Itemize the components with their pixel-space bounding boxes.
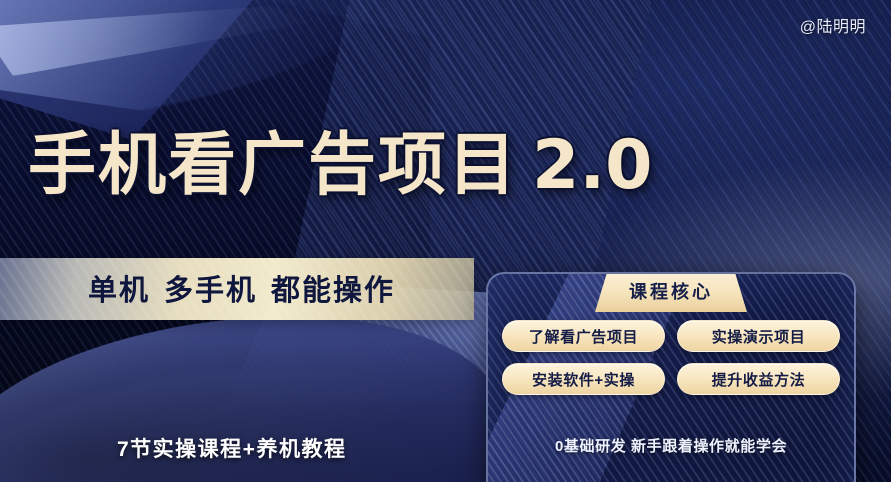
course-core-panel: 课程核心 了解看广告项目 实操演示项目 安装软件+实操 提升收益方法 0基础研发… (486, 272, 856, 482)
promo-poster: @陆明明 手机看广告项目2.0 单机多手机都能操作 课程核心 了解看广告项目 实… (0, 0, 891, 482)
feature-pill[interactable]: 了解看广告项目 (502, 320, 665, 352)
page-title: 手机看广告项目2.0 (28, 131, 652, 200)
feature-pill[interactable]: 实操演示项目 (677, 320, 840, 352)
subtitle-part-2: 多手机 (164, 275, 257, 307)
title-main-text: 手机看广告项目 (28, 127, 518, 203)
subtitle-part-1: 单机 (88, 275, 150, 307)
feature-pill[interactable]: 安装软件+实操 (502, 363, 665, 395)
core-feature-list: 了解看广告项目 实操演示项目 安装软件+实操 提升收益方法 (488, 320, 854, 395)
author-watermark: @陆明明 (800, 13, 866, 37)
course-count-caption: 7节实操课程+养机教程 (117, 433, 346, 463)
panel-note: 0基础研发 新手跟着操作就能学会 (488, 435, 854, 456)
title-version-text: 2.0 (532, 126, 652, 205)
subtitle: 单机多手机都能操作 (88, 267, 468, 309)
feature-pill[interactable]: 提升收益方法 (677, 363, 840, 395)
subtitle-part-3: 都能操作 (271, 275, 395, 307)
core-badge: 课程核心 (595, 272, 747, 312)
